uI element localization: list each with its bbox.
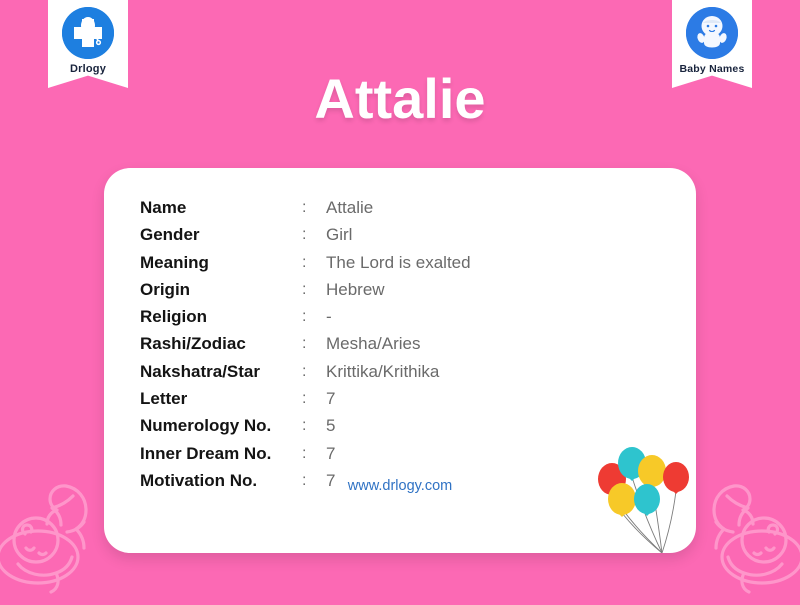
row-value: 7 [326,440,471,467]
row-label: Origin [140,276,302,303]
row-label: Meaning [140,249,302,276]
row-label: Name [140,194,302,221]
row-separator: : [302,276,326,303]
row-label: Nakshatra/Star [140,358,302,385]
mother-baby-icon [0,460,112,600]
row-separator: : [302,440,326,467]
mother-baby-icon [688,460,800,600]
row-label: Numerology No. [140,412,302,439]
table-row: Meaning:The Lord is exalted [140,249,471,276]
page-title: Attalie [0,66,800,131]
row-value: 5 [326,412,471,439]
row-separator: : [302,303,326,330]
table-row: Rashi/Zodiac:Mesha/Aries [140,330,471,357]
table-row: Inner Dream No.:7 [140,440,471,467]
row-separator: : [302,330,326,357]
row-label: Letter [140,385,302,412]
details-table: Name:AttalieGender:GirlMeaning:The Lord … [140,194,471,494]
row-label: Rashi/Zodiac [140,330,302,357]
row-separator: : [302,385,326,412]
table-row: Name:Attalie [140,194,471,221]
row-separator: : [302,221,326,248]
name-details-card: Name:AttalieGender:GirlMeaning:The Lord … [104,168,696,553]
row-value: 7 [326,385,471,412]
table-row: Origin:Hebrew [140,276,471,303]
row-label: Religion [140,303,302,330]
baby-icon [686,7,738,59]
row-label: Inner Dream No. [140,440,302,467]
row-value: Mesha/Aries [326,330,471,357]
table-row: Numerology No.:5 [140,412,471,439]
doctor-cross-icon [62,7,114,59]
table-row: Gender:Girl [140,221,471,248]
balloons-icon [592,441,696,553]
row-label: Gender [140,221,302,248]
row-separator: : [302,249,326,276]
row-value: Krittika/Krithika [326,358,471,385]
row-separator: : [302,194,326,221]
table-row: Religion:- [140,303,471,330]
row-value: - [326,303,471,330]
row-value: Hebrew [326,276,471,303]
row-separator: : [302,358,326,385]
row-value: The Lord is exalted [326,249,471,276]
table-row: Letter:7 [140,385,471,412]
row-value: Attalie [326,194,471,221]
website-link[interactable]: www.drlogy.com [104,478,696,494]
row-value: Girl [326,221,471,248]
table-row: Nakshatra/Star:Krittika/Krithika [140,358,471,385]
row-separator: : [302,412,326,439]
